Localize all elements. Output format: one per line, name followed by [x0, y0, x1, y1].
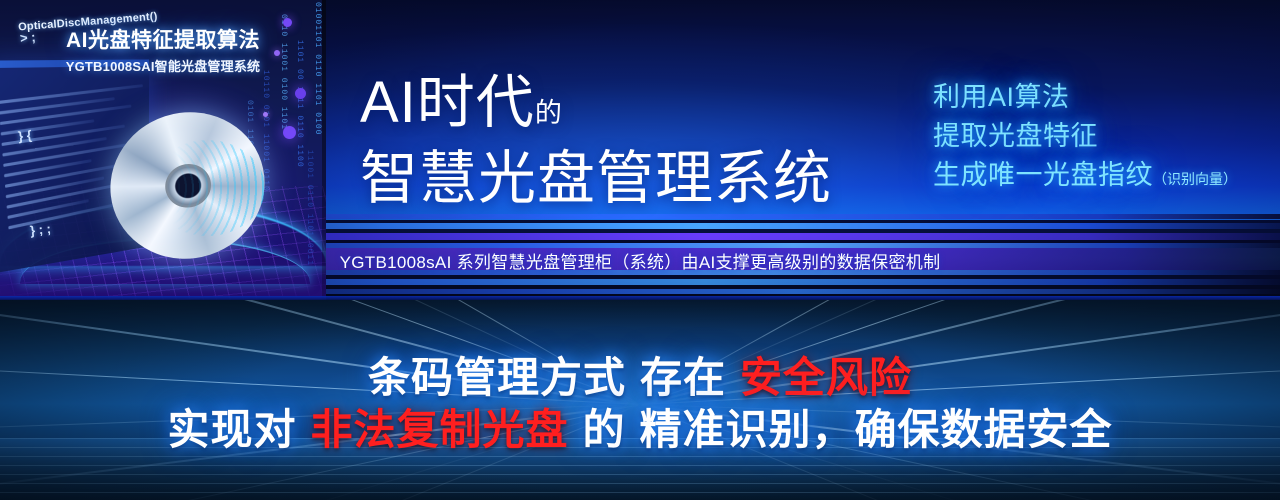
feature-item-0-label: 利用AI算法 — [933, 82, 1070, 112]
card-edge — [322, 0, 326, 300]
feature-item-1: 提取光盘特征 — [933, 117, 1237, 156]
feature-item-2-label: 生成唯一光盘指纹 — [933, 160, 1153, 190]
feature-item-1-label: 提取光盘特征 — [933, 121, 1098, 151]
headline-line1-main: AI时代 — [360, 70, 535, 135]
feature-item-2: 生成唯一光盘指纹（识别向量） — [933, 156, 1237, 195]
binary-stream-5: 11001 0110 1101 0011 — [305, 150, 314, 266]
card-subtitle: YGTB1008SAI智能光盘管理系统 — [0, 56, 326, 75]
feature-item-0: 利用AI算法 — [933, 78, 1237, 117]
page-title: AI时代的 智慧光盘管理系统 — [360, 62, 832, 221]
code-brace-icon-2: } { — [17, 127, 32, 143]
product-image-card: OpticalDiscManagement() > ; } { } ; ; 01… — [0, 0, 326, 300]
top-section: AI时代的 智慧光盘管理系统 利用AI算法 提取光盘特征 生成唯一光盘指纹（识别… — [0, 0, 1280, 300]
msg2-seg-3: 精准识别，确保数据安全 — [640, 406, 1113, 453]
feature-list: 利用AI算法 提取光盘特征 生成唯一光盘指纹（识别向量） — [933, 78, 1237, 195]
promo-banner: AI时代的 智慧光盘管理系统 利用AI算法 提取光盘特征 生成唯一光盘指纹（识别… — [0, 0, 1280, 500]
msg1-seg-0: 条码管理方式 — [368, 354, 626, 401]
msg1-seg-1: 存在 — [640, 354, 726, 401]
msg2-seg-1: 非法复制光盘 — [310, 406, 568, 453]
msg1-seg-2: 安全风险 — [740, 354, 912, 401]
bottom-message-line2: 实现对非法复制光盘的精准识别，确保数据安全 — [0, 396, 1280, 457]
code-brace-icon-3: } ; ; — [29, 221, 51, 238]
card-title: AI光盘特征提取算法 — [0, 24, 326, 54]
msg2-seg-2: 的 — [583, 406, 626, 453]
msg2-seg-0: 实现对 — [167, 406, 296, 453]
headline-line1-suffix: 的 — [535, 98, 562, 128]
feature-item-2-tag: （识别向量） — [1153, 171, 1237, 187]
headline-line2: 智慧光盘管理系统 — [360, 138, 832, 220]
